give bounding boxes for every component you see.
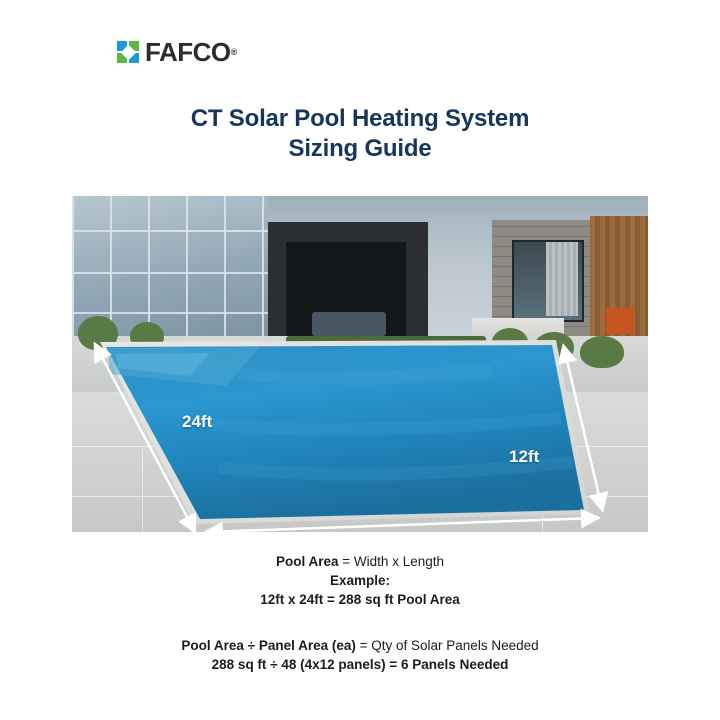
dimension-label-length: 24ft (182, 412, 212, 432)
sizing-guide-page: FAFCO ® CT Solar Pool Heating System Siz… (0, 0, 720, 720)
formula-pool-area-rest: = Width x Length (339, 554, 444, 569)
formula-line-panel-qty: Pool Area ÷ Panel Area (ea) = Qty of Sol… (0, 636, 720, 655)
formula-pool-area-term: Pool Area (276, 554, 339, 569)
fafco-diamond-icon (117, 41, 140, 64)
formula-line-example-label: Example: (0, 571, 720, 590)
formula-panel-calc: 288 sq ft ÷ 48 (4x12 panels) = 6 Panels … (212, 657, 509, 672)
page-title: CT Solar Pool Heating System Sizing Guid… (0, 104, 720, 164)
page-title-line-2: Sizing Guide (0, 134, 720, 164)
formula-example-label: Example: (330, 573, 390, 588)
formula-panel-qty-rest: = Qty of Solar Panels Needed (356, 638, 539, 653)
pool-photo: 24ft 12ft (72, 196, 648, 532)
dimension-label-width: 12ft (509, 447, 539, 467)
formula-line-panel-calc: 288 sq ft ÷ 48 (4x12 panels) = 6 Panels … (0, 655, 720, 674)
page-title-line-1: CT Solar Pool Heating System (0, 104, 720, 134)
formula-block-panel-qty: Pool Area ÷ Panel Area (ea) = Qty of Sol… (0, 636, 720, 674)
brand-name: FAFCO (145, 39, 231, 65)
formula-block-pool-area: Pool Area = Width x Length Example: 12ft… (0, 552, 720, 609)
dimension-arrows (72, 196, 648, 532)
registered-mark: ® (231, 47, 238, 57)
formula-example-calc: 12ft x 24ft = 288 sq ft Pool Area (260, 592, 459, 607)
formula-panel-qty-term: Pool Area ÷ Panel Area (ea) (181, 638, 355, 653)
formula-line-pool-area: Pool Area = Width x Length (0, 552, 720, 571)
fafco-logo: FAFCO ® (117, 38, 237, 66)
formula-line-example-calc: 12ft x 24ft = 288 sq ft Pool Area (0, 590, 720, 609)
